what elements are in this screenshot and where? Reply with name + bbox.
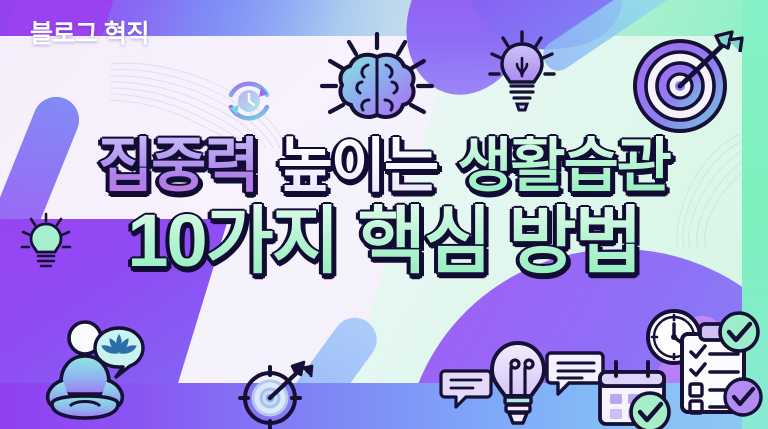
headline-seg-ten: 10가지 — [125, 204, 339, 278]
check-circle-cal-icon — [628, 390, 672, 429]
headline-line-1: 집중력높이는생활습관 — [0, 136, 768, 196]
brand-logo-text: 블로그 혁직 — [30, 14, 149, 50]
thumbnail-canvas: 블로그 혁직 — [0, 0, 768, 429]
target-arrow-icon — [632, 30, 744, 138]
lightbulb-big-icon — [484, 340, 552, 429]
crosshair-arrow-icon — [240, 358, 318, 429]
check-circle-mid-icon — [722, 376, 764, 418]
headline-seg-habits: 생활습관 — [455, 136, 672, 196]
refresh-clock-icon — [221, 73, 277, 129]
lotus-bubble-icon — [92, 325, 146, 379]
headline-seg-methods: 핵심 방법 — [356, 204, 643, 278]
headline-seg-focus: 집중력 — [96, 136, 260, 196]
headline-block: 집중력높이는생활습관 10가지핵심 방법 — [0, 136, 768, 278]
lightbulb-rays-icon — [487, 30, 557, 116]
headline-seg-raise: 높이는 — [276, 136, 440, 196]
check-circle-top-icon — [717, 310, 761, 354]
headline-line-2: 10가지핵심 방법 — [0, 204, 768, 278]
